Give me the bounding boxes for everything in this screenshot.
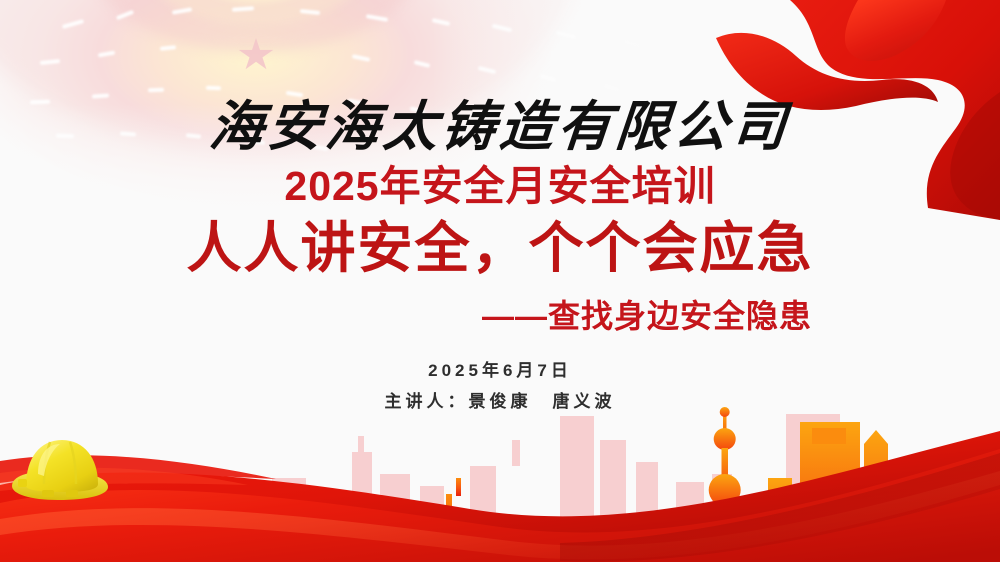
presentation-slide: 海安海太铸造有限公司 2025年安全月安全培训 人人讲安全，个个会应急 ——查找…: [0, 0, 1000, 562]
slide-text-content: 海安海太铸造有限公司 2025年安全月安全培训 人人讲安全，个个会应急 ——查找…: [0, 0, 1000, 562]
presenters: 主讲人：景俊康 唐义波: [0, 387, 1000, 412]
event-date: 2025年6月7日: [0, 356, 1000, 381]
main-slogan: 人人讲安全，个个会应急: [0, 203, 1000, 283]
company-name: 海安海太铸造有限公司: [0, 82, 1000, 161]
tagline: ——查找身边安全隐患: [482, 291, 812, 337]
